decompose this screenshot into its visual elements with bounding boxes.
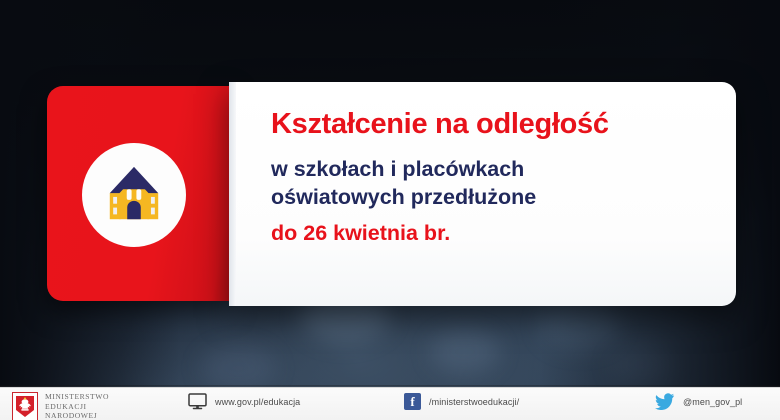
ministry-line-3: NARODOWEJ — [45, 411, 109, 420]
school-building-icon — [103, 164, 165, 226]
ministry-line-1: MINISTERSTWO — [45, 392, 109, 402]
facebook-icon: f — [404, 393, 421, 410]
footer-bar: MINISTERSTWO EDUKACJI NARODOWEJ www.gov.… — [0, 387, 780, 420]
website-link[interactable]: www.gov.pl/edukacja — [188, 393, 300, 410]
facebook-label: /ministerstwoedukacji/ — [429, 397, 519, 407]
monitor-icon — [188, 393, 207, 410]
message-card: Kształcenie na odległość w szkołach i pl… — [229, 82, 736, 306]
website-label: www.gov.pl/edukacja — [215, 397, 300, 407]
deadline-line: do 26 kwietnia br. — [271, 219, 718, 248]
headline: Kształcenie na odległość — [271, 109, 718, 140]
icon-circle — [82, 143, 186, 247]
poster-canvas: Kształcenie na odległość w szkołach i pl… — [0, 0, 780, 420]
eagle-glyph — [15, 395, 35, 418]
twitter-label: @men_gov_pl — [683, 397, 742, 407]
ministry-name: MINISTERSTWO EDUKACJI NARODOWEJ — [45, 392, 109, 420]
ministry-line-2: EDUKACJI — [45, 402, 109, 412]
ministry-logo: MINISTERSTWO EDUKACJI NARODOWEJ — [12, 392, 109, 420]
message-text-block: Kształcenie na odległość w szkołach i pl… — [271, 109, 718, 248]
facebook-link[interactable]: f /ministerstwoedukacji/ — [404, 393, 519, 410]
body-line-1: w szkołach i placówkach — [271, 155, 718, 184]
icon-card — [47, 86, 229, 301]
body-line-2: oświatowych przedłużone — [271, 183, 718, 212]
twitter-icon — [655, 393, 675, 410]
twitter-link[interactable]: @men_gov_pl — [655, 393, 742, 410]
polish-eagle-emblem — [12, 392, 38, 420]
